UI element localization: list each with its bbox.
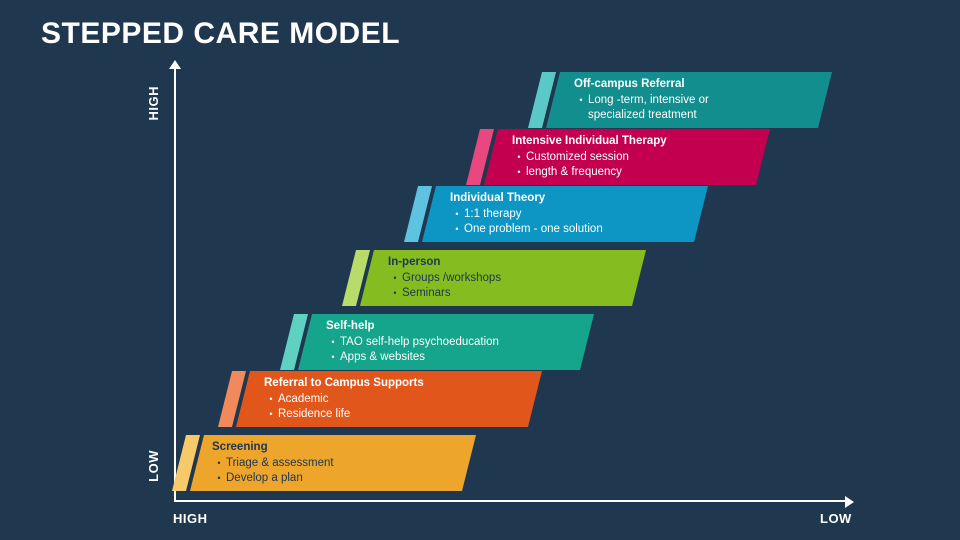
step-title: Intensive Individual Therapy bbox=[512, 134, 756, 148]
step-title: Off-campus Referral bbox=[574, 77, 818, 91]
step-bullet: •Long -term, intensive or bbox=[574, 93, 818, 108]
bullet-dot-icon: • bbox=[264, 392, 278, 407]
step-title: Screening bbox=[212, 440, 462, 454]
care-step[interactable]: Referral to Campus Supports•Academic•Res… bbox=[218, 371, 542, 427]
care-step[interactable]: In-person•Groups /workshops•Seminars bbox=[342, 250, 646, 306]
bullet-dot-icon: • bbox=[574, 93, 588, 108]
slide-canvas: STEPPED CARE MODEL HIGH LOW HIGH LOW Off… bbox=[0, 0, 960, 540]
care-step[interactable]: Self-help•TAO self-help psychoeducation•… bbox=[280, 314, 594, 370]
step-bullet-text: Groups /workshops bbox=[402, 271, 632, 286]
bullet-dot-icon: • bbox=[450, 222, 464, 237]
x-axis-arrow-icon bbox=[845, 496, 854, 508]
step-bullet: •Residence life bbox=[264, 407, 528, 422]
step-bullet-text: Seminars bbox=[402, 286, 632, 301]
y-axis-low-label: LOW bbox=[146, 450, 161, 482]
step-bullet-text: 1:1 therapy bbox=[464, 207, 694, 222]
step-bullet-text: Long -term, intensive or bbox=[588, 93, 818, 108]
step-bullet: •Develop a plan bbox=[212, 471, 462, 486]
step-title: Self-help bbox=[326, 319, 580, 333]
step-bullet-text: Develop a plan bbox=[226, 471, 462, 486]
page-title: STEPPED CARE MODEL bbox=[41, 17, 400, 51]
bullet-dot-icon: • bbox=[512, 150, 526, 165]
x-axis-low-label: LOW bbox=[820, 511, 852, 526]
step-title: Referral to Campus Supports bbox=[264, 376, 528, 390]
x-axis-high-label: HIGH bbox=[173, 511, 208, 526]
step-bullet-text: Residence life bbox=[278, 407, 528, 422]
step-bullet: •Triage & assessment bbox=[212, 456, 462, 471]
step-bullet: •Academic bbox=[264, 392, 528, 407]
step-text-block: Self-help•TAO self-help psychoeducation•… bbox=[326, 314, 580, 370]
y-axis-arrow-icon bbox=[169, 60, 181, 69]
step-bullet-text: Customized session bbox=[526, 150, 756, 165]
step-title: In-person bbox=[388, 255, 632, 269]
bullet-dot-icon: • bbox=[388, 286, 402, 301]
step-text-block: Screening•Triage & assessment•Develop a … bbox=[212, 435, 462, 491]
care-step[interactable]: Intensive Individual Therapy•Customized … bbox=[466, 129, 770, 185]
step-bullet-text: specialized treatment bbox=[588, 108, 818, 123]
step-bullet-text: Academic bbox=[278, 392, 528, 407]
bullet-dot-icon: • bbox=[326, 335, 340, 350]
bullet-dot-icon: • bbox=[512, 165, 526, 180]
care-step[interactable]: Individual Theory•1:1 therapy•One proble… bbox=[404, 186, 708, 242]
bullet-dot-icon: • bbox=[264, 407, 278, 422]
step-bullet: •One problem - one solution bbox=[450, 222, 694, 237]
step-text-block: Individual Theory•1:1 therapy•One proble… bbox=[450, 186, 694, 242]
care-step[interactable]: Screening•Triage & assessment•Develop a … bbox=[172, 435, 476, 491]
step-title: Individual Theory bbox=[450, 191, 694, 205]
step-bullet: •Groups /workshops bbox=[388, 271, 632, 286]
step-bullet: •TAO self-help psychoeducation bbox=[326, 335, 580, 350]
step-bullet: specialized treatment bbox=[574, 108, 818, 123]
bullet-dot-icon: • bbox=[450, 207, 464, 222]
step-bullet: •Seminars bbox=[388, 286, 632, 301]
bullet-dot-icon: • bbox=[326, 350, 340, 365]
step-text-block: In-person•Groups /workshops•Seminars bbox=[388, 250, 632, 306]
step-bullet: •Apps & websites bbox=[326, 350, 580, 365]
step-text-block: Referral to Campus Supports•Academic•Res… bbox=[264, 371, 528, 427]
care-step[interactable]: Off-campus Referral•Long -term, intensiv… bbox=[528, 72, 832, 128]
step-bullet-text: One problem - one solution bbox=[464, 222, 694, 237]
y-axis-high-label: HIGH bbox=[146, 86, 161, 121]
x-axis-line bbox=[174, 500, 846, 502]
step-bullet: •length & frequency bbox=[512, 165, 756, 180]
step-bullet-text: TAO self-help psychoeducation bbox=[340, 335, 580, 350]
step-text-block: Intensive Individual Therapy•Customized … bbox=[512, 129, 756, 185]
step-bullet: •1:1 therapy bbox=[450, 207, 694, 222]
step-bullet: •Customized session bbox=[512, 150, 756, 165]
step-bullet-text: Apps & websites bbox=[340, 350, 580, 365]
bullet-dot-icon: • bbox=[212, 456, 226, 471]
bullet-dot-icon: • bbox=[212, 471, 226, 486]
step-bullet-text: Triage & assessment bbox=[226, 456, 462, 471]
step-text-block: Off-campus Referral•Long -term, intensiv… bbox=[574, 72, 818, 128]
bullet-dot-icon: • bbox=[388, 271, 402, 286]
step-bullet-text: length & frequency bbox=[526, 165, 756, 180]
